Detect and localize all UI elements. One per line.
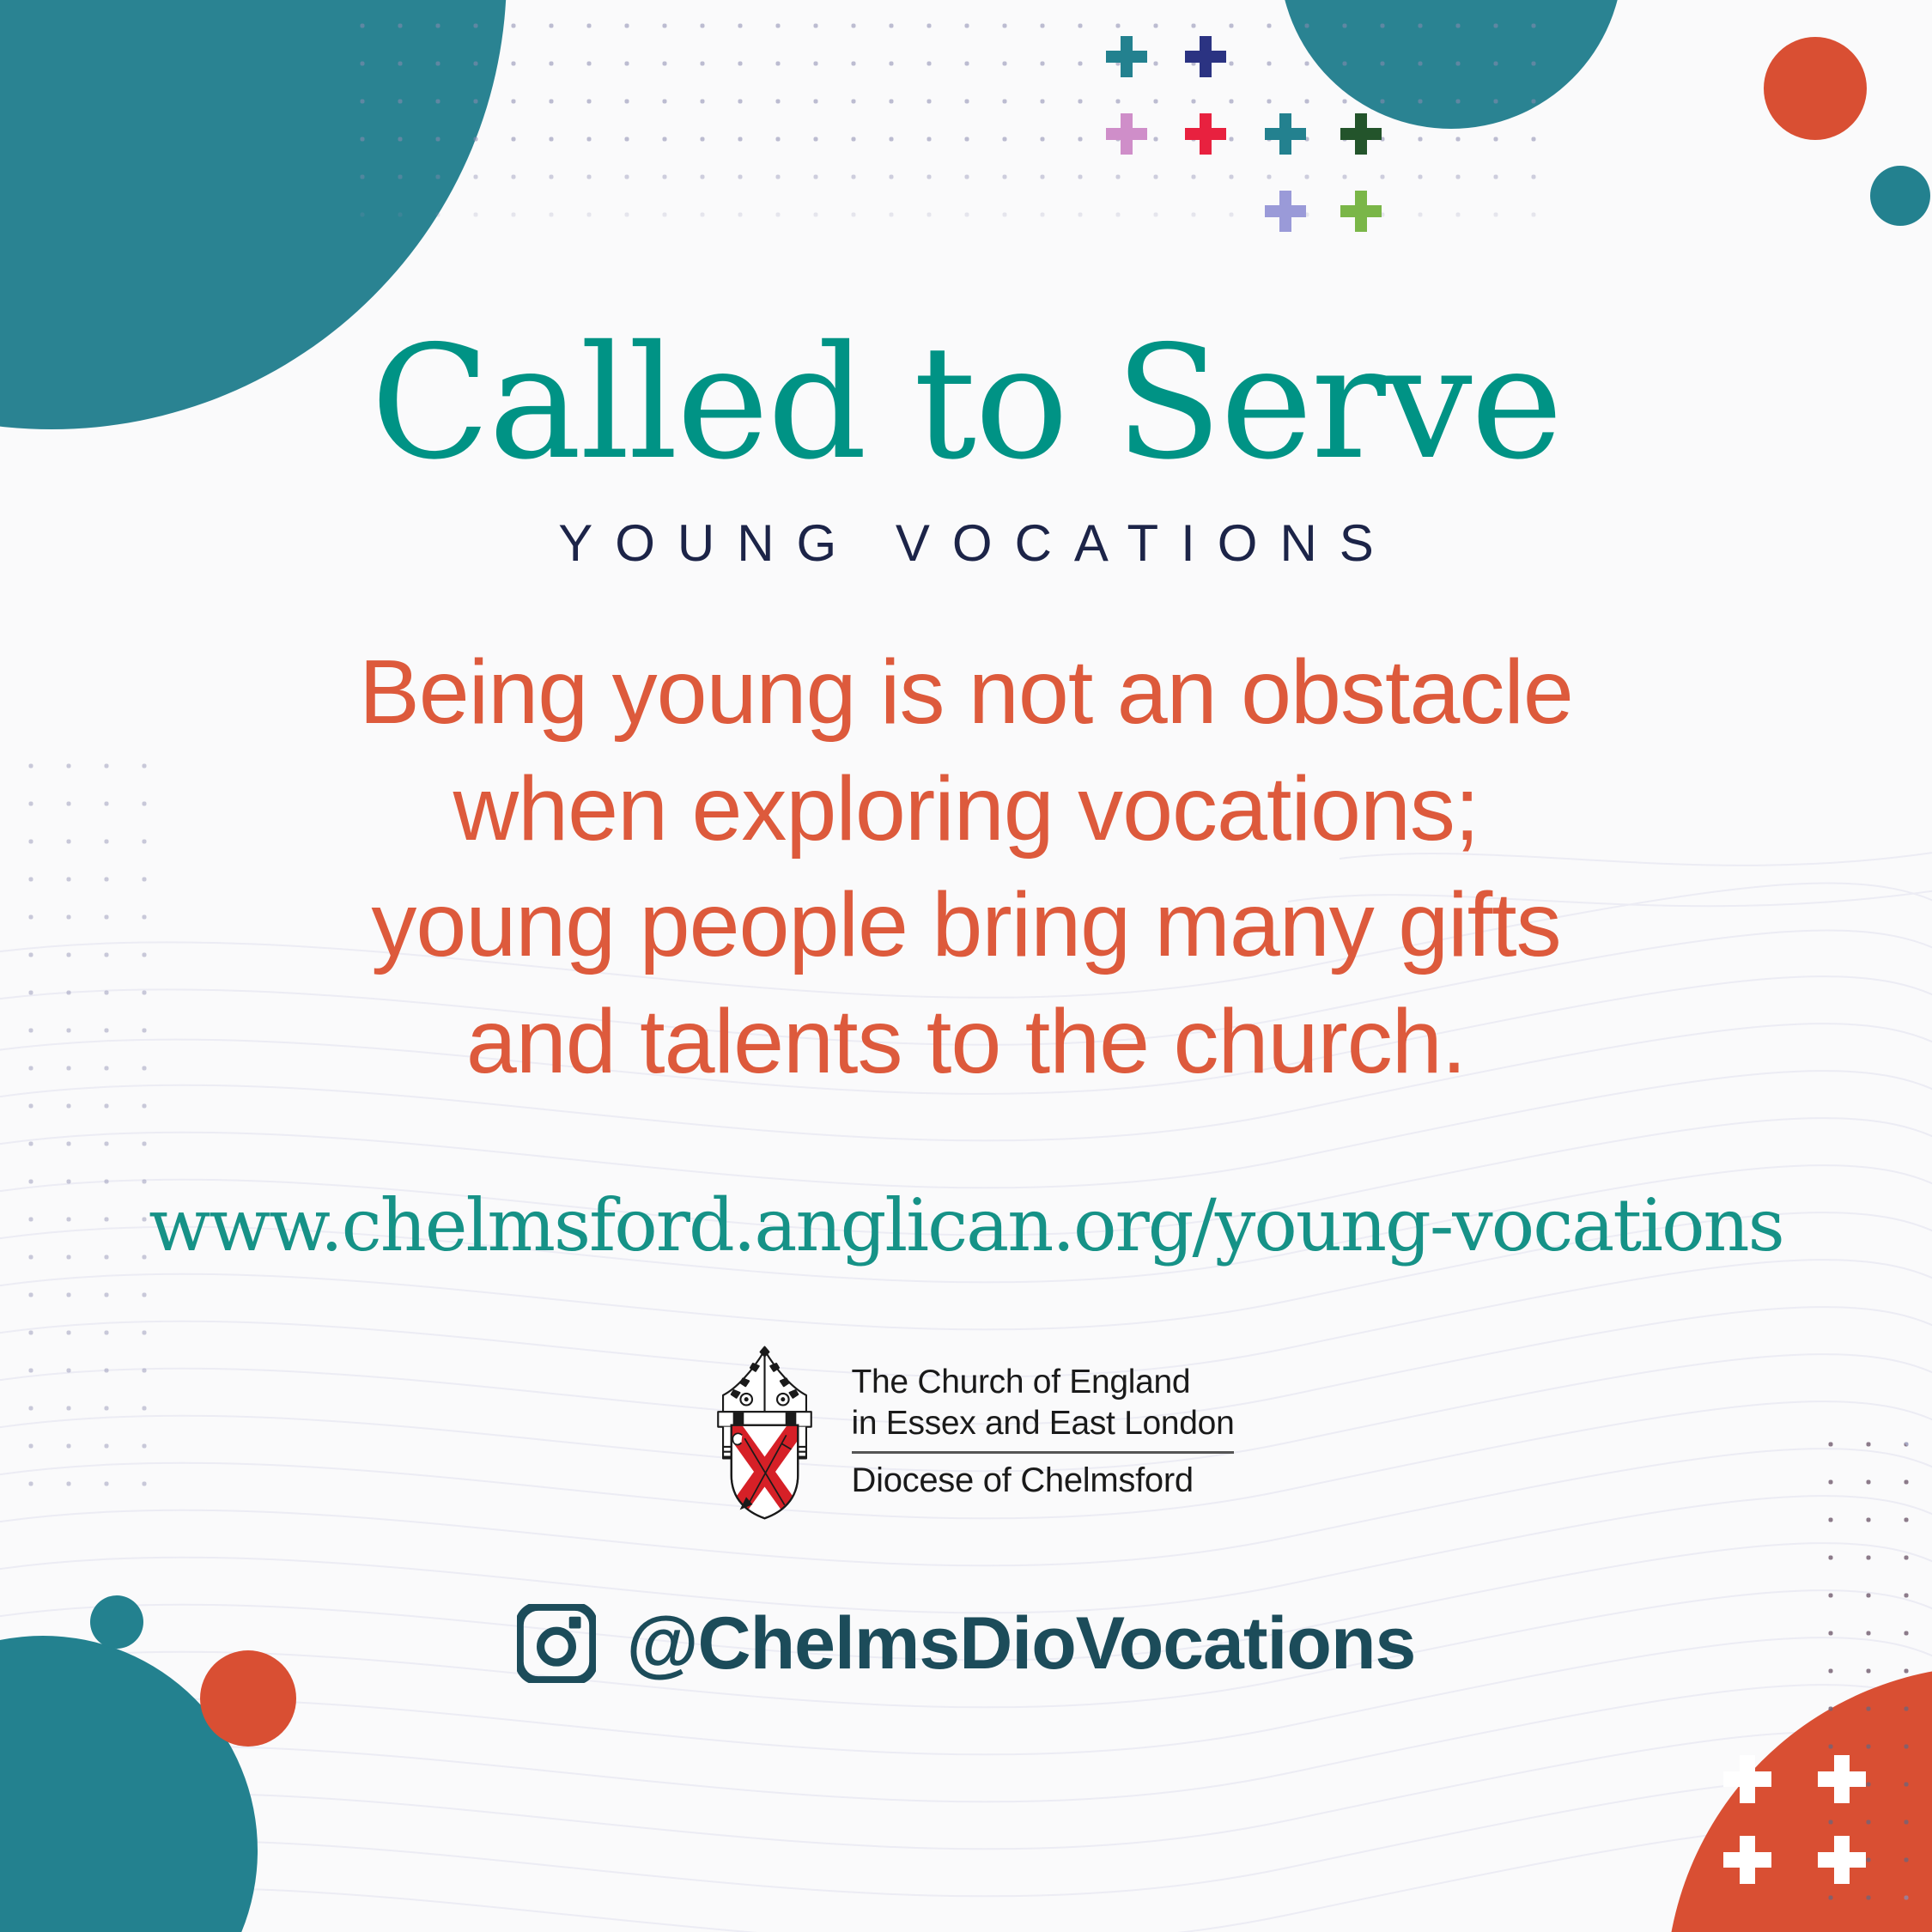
logo-divider	[852, 1451, 1235, 1454]
body-line-2: when exploring vocations;	[0, 751, 1932, 868]
instagram-icon[interactable]	[517, 1604, 596, 1683]
poster-canvas: Called to Serve YOUNG VOCATIONS Being yo…	[0, 0, 1932, 1932]
page-subtitle: YOUNG VOCATIONS	[0, 481, 1932, 573]
poster-content: Called to Serve YOUNG VOCATIONS Being yo…	[0, 0, 1932, 1683]
body-line-4: and talents to the church.	[0, 984, 1932, 1101]
body-line-3: young people bring many gifts	[0, 867, 1932, 984]
diocese-crest-icon	[698, 1341, 831, 1522]
body-quote: Being young is not an obstacle when expl…	[0, 573, 1932, 1101]
logo-line-1: The Church of England	[852, 1362, 1235, 1403]
diocese-logo-text: The Church of England in Essex and East …	[852, 1362, 1235, 1500]
logo-line-3: Diocese of Chelmsford	[852, 1461, 1235, 1500]
website-url[interactable]: www.chelmsford.anglican.org/young-vocati…	[0, 1101, 1932, 1267]
instagram-block[interactable]: @ChelmsDioVocations	[0, 1522, 1932, 1683]
page-title: Called to Serve	[0, 0, 1932, 481]
diocese-logo: The Church of England in Essex and East …	[0, 1267, 1932, 1522]
logo-line-2: in Essex and East London	[852, 1403, 1235, 1444]
instagram-handle[interactable]: @ChelmsDioVocations	[627, 1607, 1416, 1680]
body-line-1: Being young is not an obstacle	[0, 635, 1932, 751]
